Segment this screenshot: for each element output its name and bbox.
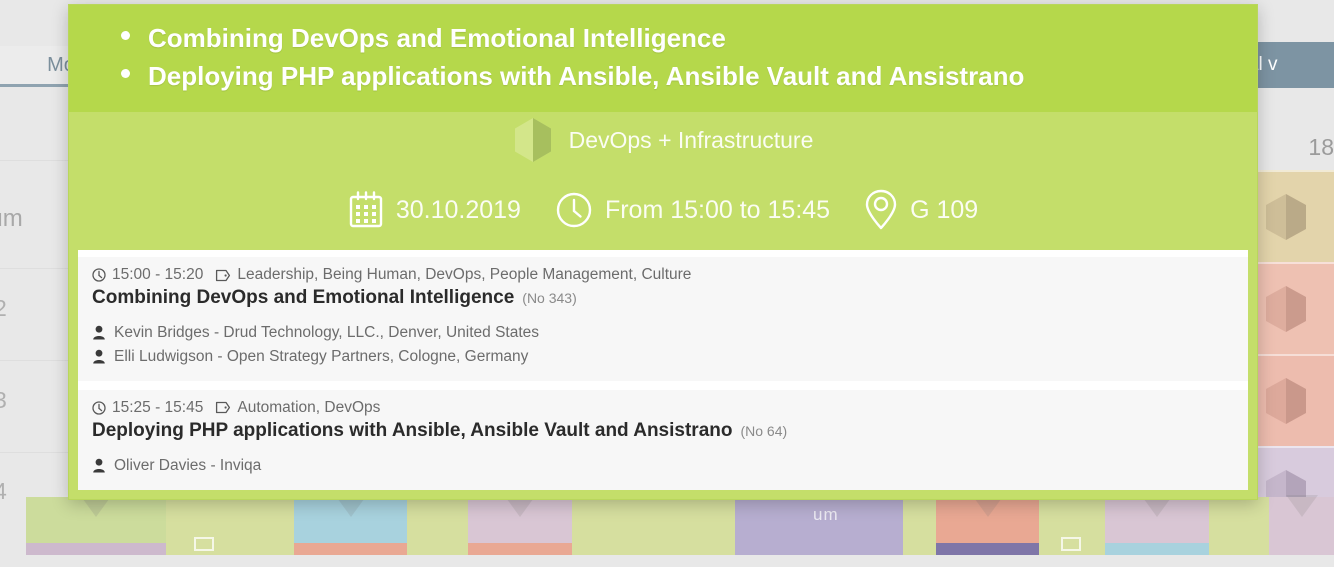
date-chip: 30.10.2019 [348,191,521,229]
session-meta-line: 15:00 - 15:20 Leadership, Being Human, D… [92,266,1234,284]
track-label: DevOps + Infrastructure [569,127,814,154]
speaker-row: Elli Ludwigson - Open Strategy Partners,… [92,345,1234,368]
background-session-card[interactable] [572,497,735,555]
hexagon-icon [1264,284,1308,334]
background-session-card[interactable] [166,497,294,555]
clock-icon [92,401,106,415]
speaker-name: Kevin Bridges - Drud Technology, LLC., D… [114,321,539,344]
session-detail-popup[interactable]: Combining DevOps and Emotional Intellige… [68,4,1258,500]
card-accent [1105,543,1209,555]
session-title-row: Combining DevOps and Emotional Intellige… [92,287,1234,309]
clock-icon [555,191,593,229]
bullet-icon [121,69,130,78]
background-bottom-row: um [0,497,1334,555]
popup-title-item: Combining DevOps and Emotional Intellige… [95,19,1231,57]
card-mark [194,537,214,551]
session-title-row: Deploying PHP applications with Ansible,… [92,420,1234,442]
tag-icon [215,269,231,282]
tag-icon [215,401,231,414]
background-session-card[interactable] [468,497,572,555]
date-label: 30.10.2019 [396,196,521,225]
background-session-card[interactable] [294,497,407,555]
person-icon [92,458,106,473]
hexagon-icon [1286,495,1318,517]
popup-title-text: Deploying PHP applications with Ansible,… [148,57,1024,95]
person-icon [92,349,106,364]
background-session-card[interactable] [936,497,1039,555]
background-session-card[interactable] [1254,170,1334,262]
meta-row: 30.10.2019 From 15:00 to 15:45 G [348,189,978,231]
session-time: 15:25 - 15:45 [112,399,203,417]
background-session-card[interactable] [407,497,468,555]
room-chip: G 109 [864,189,978,231]
hexagon-icon [1264,376,1308,426]
card-accent [936,543,1039,555]
card-accent [294,543,407,555]
card-accent [26,543,166,555]
speaker-row: Oliver Davies - Inviqa [92,454,1234,477]
person-icon [92,325,106,340]
session-item[interactable]: 15:00 - 15:20 Leadership, Being Human, D… [78,257,1248,381]
clock-icon [92,268,106,282]
speaker-row: Kevin Bridges - Drud Technology, LLC., D… [92,321,1234,344]
track-row: DevOps + Infrastructure [513,117,814,163]
time-label: From 15:00 to 15:45 [605,196,830,225]
calendar-icon [348,191,384,229]
popup-header: Combining DevOps and Emotional Intellige… [69,5,1257,112]
card-accent [468,543,572,555]
bullet-icon [121,31,130,40]
room-label-auditorium: torium [0,205,23,233]
location-pin-icon [864,189,898,231]
background-session-card[interactable] [1039,497,1105,555]
session-meta-line: 15:25 - 15:45 Automation, DevOps [92,399,1234,417]
room-label: G 109 [910,196,978,225]
ghost-label: um [813,505,839,525]
speaker-list: Kevin Bridges - Drud Technology, LLC., D… [92,321,1234,368]
background-session-card[interactable]: um [735,497,903,555]
session-number: (No 343) [522,290,576,306]
session-title: Deploying PHP applications with Ansible,… [92,420,732,442]
row-number-3: 3 [0,387,7,414]
background-session-card[interactable] [1269,497,1334,555]
popup-title-item: Deploying PHP applications with Ansible,… [95,57,1231,95]
session-item[interactable]: 15:25 - 15:45 Automation, DevOps Deployi… [78,390,1248,490]
session-list: 15:00 - 15:20 Leadership, Being Human, D… [78,250,1248,490]
background-session-card[interactable] [1209,497,1269,555]
schedule-popup-screen: Mon ertical v 18 torium 2 3 4 [0,0,1334,567]
speaker-name: Oliver Davies - Inviqa [114,454,261,477]
session-title: Combining DevOps and Emotional Intellige… [92,287,514,309]
background-session-card[interactable] [1254,262,1334,354]
hexagon-icon [513,117,553,163]
card-mark [1061,537,1081,551]
hour-label-18: 18 [1308,134,1334,161]
session-tags: Automation, DevOps [237,399,380,417]
background-session-card[interactable] [26,497,166,555]
popup-meta: DevOps + Infrastructure [69,112,1257,250]
session-number: (No 64) [740,423,787,439]
background-session-card[interactable] [1254,354,1334,446]
row-number-2: 2 [0,295,7,322]
time-chip: From 15:00 to 15:45 [555,191,830,229]
popup-title-list: Combining DevOps and Emotional Intellige… [95,19,1231,96]
hexagon-icon [1264,192,1308,242]
popup-title-text: Combining DevOps and Emotional Intellige… [148,19,726,57]
speaker-name: Elli Ludwigson - Open Strategy Partners,… [114,345,528,368]
session-tags: Leadership, Being Human, DevOps, People … [237,266,691,284]
background-session-card[interactable] [1105,497,1209,555]
speaker-list: Oliver Davies - Inviqa [92,454,1234,477]
background-session-card[interactable] [903,497,936,555]
session-time: 15:00 - 15:20 [112,266,203,284]
